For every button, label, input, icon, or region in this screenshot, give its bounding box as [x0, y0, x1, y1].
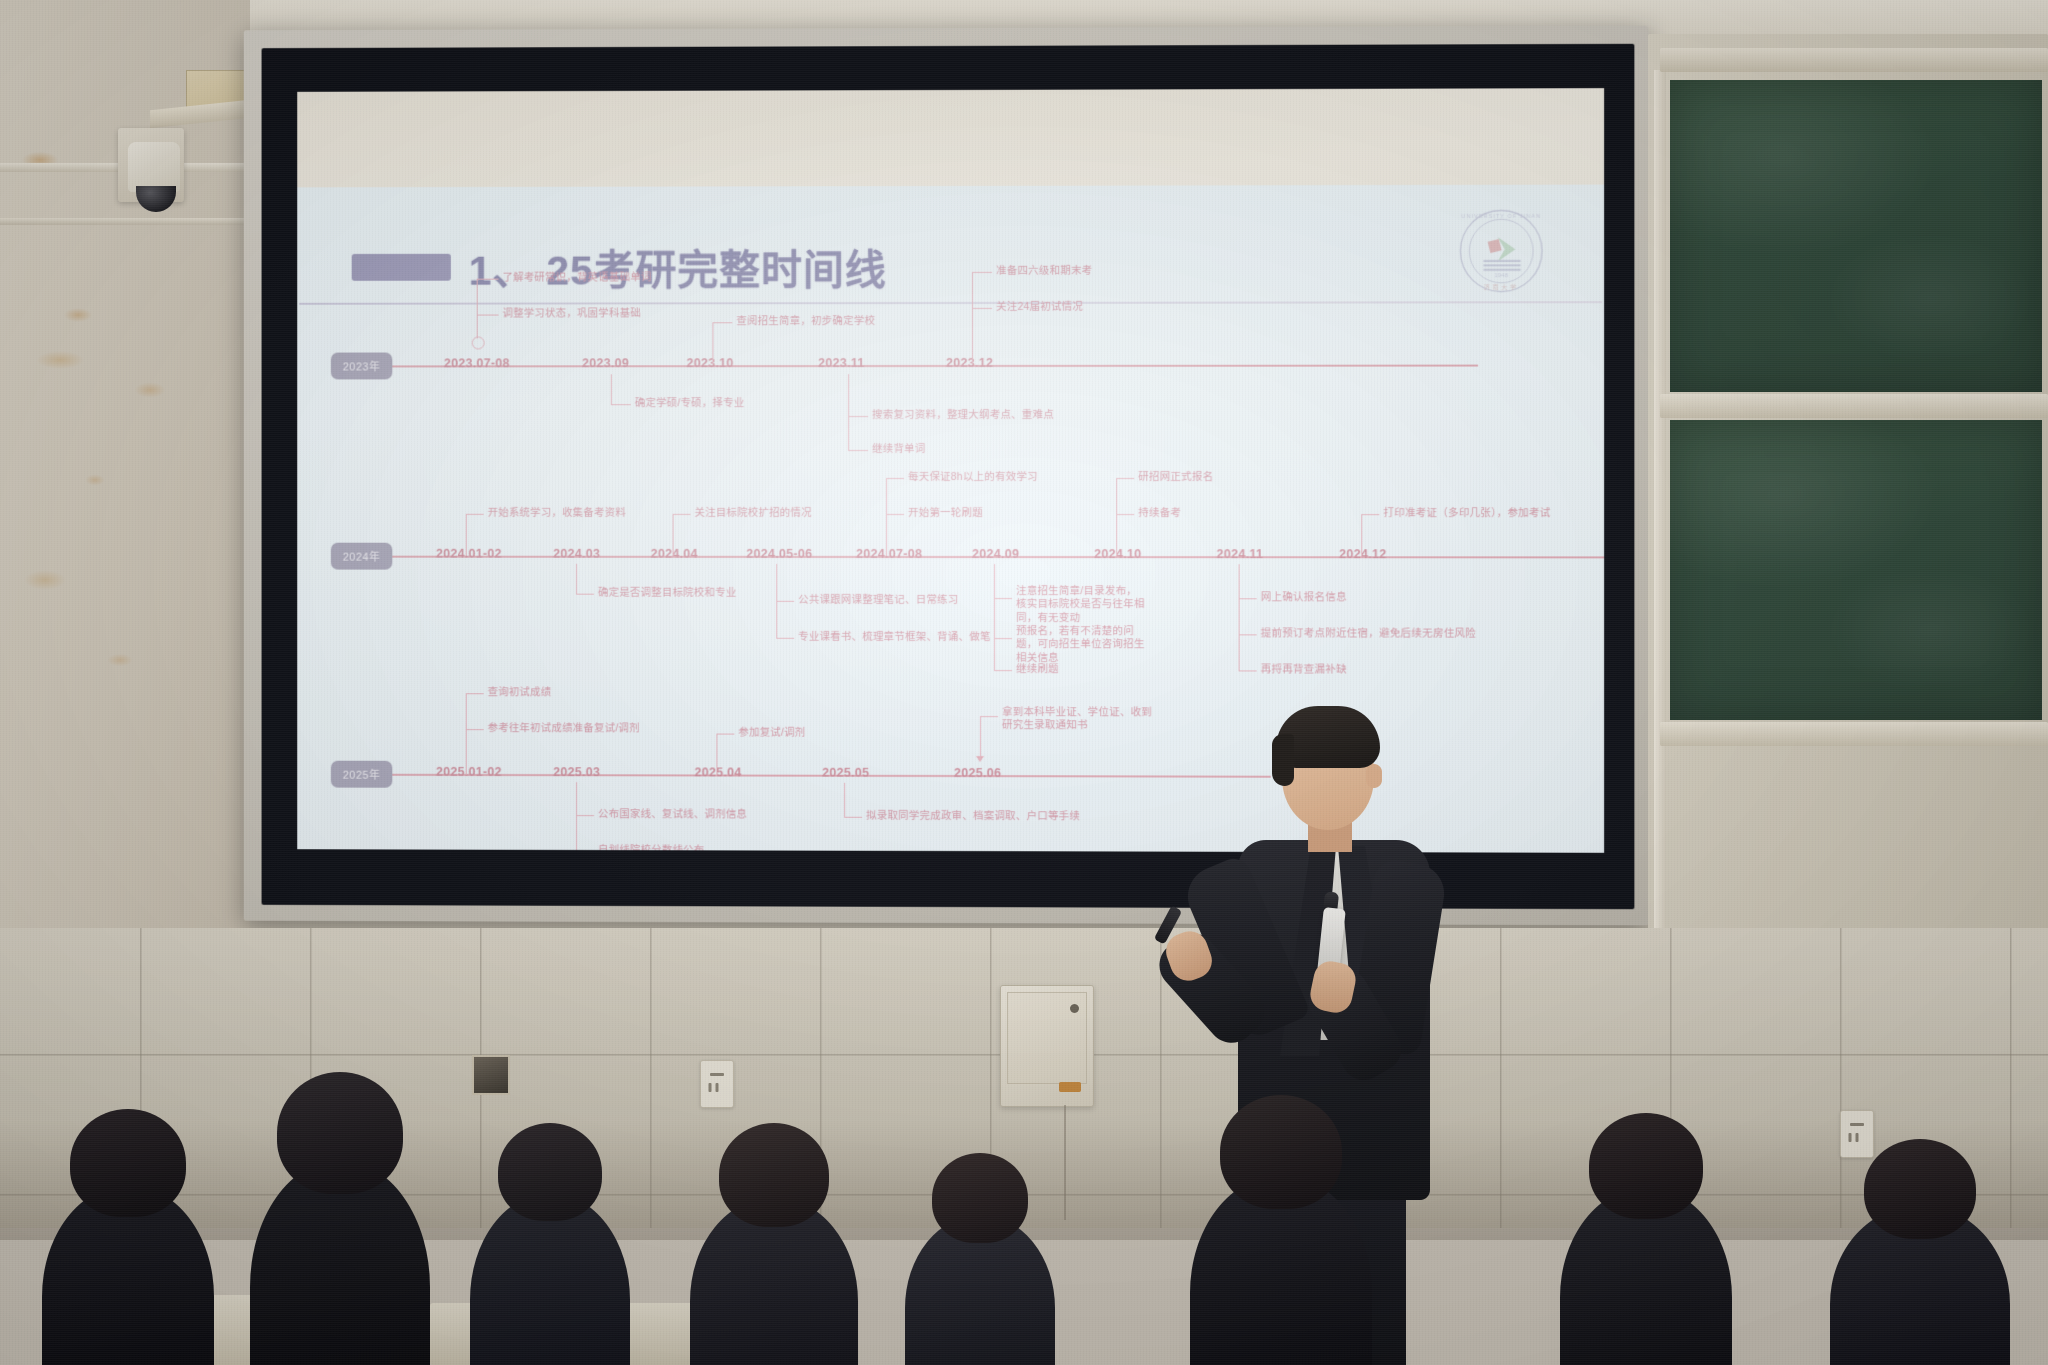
student-head	[70, 1109, 186, 1217]
branch-arm-n1	[1361, 514, 1379, 515]
timeline-row-2024: 2024年 2024.01-02 开始系统学习，收集备考资料 2024.03	[297, 446, 1604, 647]
branch-stem-c	[712, 322, 713, 364]
branch-arm-j1	[886, 478, 904, 479]
student-audience	[0, 1135, 2048, 1365]
leaf-text: 参加复试/调剂	[738, 727, 805, 741]
branch-stem-a	[477, 279, 478, 339]
timeline-row-2023: 2023年 2023.07-08 了解考研常识，背英语基础单词 调整学习状态，巩…	[297, 263, 1604, 464]
node-label-2023-09: 2023.09	[582, 356, 629, 370]
node-label-2024-05-06: 2024.05-06	[746, 547, 812, 561]
leaf-text: 参考往年初试成绩准备复试/调剂	[488, 722, 640, 736]
branch-stem-s	[980, 716, 981, 756]
branch-arm-p2	[576, 851, 594, 852]
branch-stem-h	[673, 514, 674, 556]
branch-arm-e1	[972, 272, 992, 273]
chalkboard-left-edge	[1654, 70, 1666, 950]
branch-stem-d	[848, 374, 849, 450]
branch-arm-g1	[576, 594, 594, 595]
node-label-2025-03: 2025.03	[553, 765, 600, 779]
leaf-text: 开始第一轮刷题	[908, 507, 983, 520]
chalkboard-mid-rail	[1660, 394, 2048, 418]
node-label-2025-05: 2025.05	[822, 766, 869, 780]
leaf-text: 了解考研常识，背英语基础单词	[503, 271, 652, 285]
student-silhouette	[1560, 1187, 1732, 1365]
ptz-dome-camera-icon	[128, 142, 180, 192]
node-label-2023-07-08: 2023.07-08	[444, 356, 510, 370]
branch-stem-j	[886, 478, 887, 556]
timeline-axis-2023	[392, 365, 1478, 367]
node-label-2024-01-02: 2024.01-02	[436, 547, 502, 561]
branch-stem-q	[716, 734, 717, 776]
classroom-scene: 1、 25考研完整时间线 1948	[0, 0, 2048, 1365]
node-label-2023-12: 2023.12	[946, 356, 993, 370]
panel-knob-icon	[1070, 1004, 1079, 1013]
chalkboard-bottom-rail	[1660, 722, 2048, 746]
student-silhouette	[470, 1193, 630, 1365]
student-silhouette	[1190, 1175, 1372, 1365]
leaf-text: 拟录取同学完成政审、档案调取、户口等手续	[866, 810, 1080, 824]
branch-arm-q1	[716, 734, 734, 735]
student-silhouette	[250, 1160, 430, 1365]
year-chip-2025: 2025年	[331, 761, 392, 788]
branch-arm-k1	[994, 598, 1012, 599]
student-head	[498, 1123, 602, 1221]
year-chip-2023: 2023年	[331, 353, 392, 380]
node-label-2023-11: 2023.11	[818, 356, 865, 370]
branch-stem-n	[1361, 514, 1362, 556]
student-silhouette	[905, 1215, 1055, 1365]
chalkboard-panel-top	[1670, 80, 2042, 392]
leaf-text: 自划线院校分数线公布	[598, 844, 705, 853]
branch-arm-i1	[776, 601, 794, 602]
year-chip-2024: 2024年	[331, 543, 392, 570]
leaf-text: 提前预订考点附近住宿，避免后续无房住风险	[1261, 627, 1476, 641]
student-head	[932, 1153, 1028, 1243]
branch-stem-l	[1116, 478, 1117, 556]
chalkboard	[1648, 34, 2048, 934]
node-label-2024-11: 2024.11	[1217, 547, 1264, 561]
branch-arm-d1	[848, 416, 868, 417]
leaf-text: 关注目标院校扩招的情况	[695, 507, 812, 520]
leaf-text: 注意招生简章/目录发布，核实目标院校是否与往年相同，有无变动	[1016, 585, 1146, 625]
leaf-text: 查阅招生简章，初步确定学校	[736, 315, 875, 329]
leaf-text: 开始系统学习，收集备考资料	[488, 507, 626, 520]
panel-latch-icon	[1059, 1082, 1081, 1092]
node-label-2024-09: 2024.09	[972, 547, 1019, 561]
student-silhouette	[1830, 1205, 2010, 1365]
branch-arm-p1	[576, 815, 594, 816]
leaf-text: 调整学习状态，巩固学科基础	[503, 307, 641, 321]
branch-arm-k2	[994, 638, 1012, 639]
branch-arm-m1	[1239, 598, 1257, 599]
branch-stem-e	[972, 272, 973, 364]
node-label-2024-03: 2024.03	[553, 547, 600, 561]
leaf-text: 搜索复习资料，整理大纲考点、重难点	[872, 409, 1054, 423]
leaf-text: 持续备考	[1138, 507, 1181, 520]
leaf-text: 研招网正式报名	[1138, 471, 1213, 484]
leaf-text: 关注24届初试情况	[996, 301, 1083, 315]
student-head	[719, 1123, 829, 1227]
leaf-text: 打印准考证（多印几张），参加考试	[1383, 507, 1550, 521]
student-head	[1220, 1095, 1342, 1209]
student-silhouette	[690, 1197, 858, 1365]
branch-stem-b	[611, 374, 612, 404]
student-head	[1589, 1113, 1703, 1219]
branch-arm-b1	[611, 404, 631, 405]
leaf-text: 准备四六级和期末考	[996, 265, 1092, 279]
branch-stem-f	[466, 514, 467, 556]
node-label-2025-01-02: 2025.01-02	[436, 765, 502, 779]
presenter-sideburn	[1272, 734, 1294, 786]
branch-arm-s1	[980, 716, 998, 717]
branch-arm-f1	[466, 514, 484, 515]
branch-arm-a2	[477, 315, 499, 316]
node-label-2024-07-08: 2024.07-08	[856, 547, 922, 561]
leaf-text: 确定学硕/专硕，择专业	[635, 397, 745, 410]
student-head	[1864, 1139, 1976, 1239]
node-label-2024-04: 2024.04	[651, 547, 698, 561]
presenter-ear	[1366, 764, 1382, 788]
student-silhouette	[42, 1185, 214, 1365]
leaf-text: 公共课跟网课整理笔记、日常练习	[798, 594, 958, 608]
branch-arm-h1	[673, 514, 691, 515]
branch-arm-a1	[477, 279, 499, 280]
electrical-panel-box[interactable]	[1000, 985, 1094, 1107]
node-marker-2023-07-08	[472, 336, 485, 349]
branch-arm-o1	[466, 693, 484, 694]
leaf-text: 每天保证8h以上的有效学习	[908, 471, 1038, 484]
branch-stem-p	[576, 782, 577, 853]
branch-arm-e2	[972, 308, 992, 309]
branch-arm-l2	[1116, 514, 1134, 515]
branch-stem-r	[844, 783, 845, 817]
wall-recess-box	[472, 1055, 510, 1095]
branch-arm-j2	[886, 514, 904, 515]
leaf-text: 网上确认报名信息	[1261, 591, 1347, 605]
node-label-2024-12: 2024.12	[1339, 547, 1387, 561]
branch-arm-l1	[1116, 478, 1134, 479]
leaf-text: 专业课看书、梳理章节框架、背诵、做笔	[798, 631, 990, 645]
node-label-2023-10: 2023.10	[687, 356, 734, 370]
leaf-text: 确定是否调整目标院校和专业	[598, 587, 737, 601]
chalkboard-top-rail	[1660, 48, 2048, 72]
branch-arm-c1	[712, 322, 732, 323]
student-head	[277, 1072, 403, 1194]
leaf-text: 拿到本科毕业证、学位证、收到研究生录取通知书	[1002, 706, 1162, 733]
branch-arrow-s	[976, 756, 984, 762]
svg-text:UNIVERSITY OF JINAN: UNIVERSITY OF JINAN	[1461, 214, 1541, 220]
node-label-2024-10: 2024.10	[1094, 547, 1141, 561]
wall-outlet-icon[interactable]	[700, 1060, 734, 1108]
branch-arm-r1	[844, 817, 862, 818]
node-label-2025-04: 2025.04	[695, 765, 742, 779]
leaf-text: 查询初试成绩	[488, 686, 552, 699]
node-label-2025-06: 2025.06	[954, 766, 1001, 780]
chalkboard-panel-bottom	[1670, 420, 2042, 720]
branch-stem-o	[466, 693, 467, 775]
branch-stem-g	[576, 564, 577, 594]
leaf-text: 公布国家线、复试线、调剂信息	[598, 808, 747, 822]
branch-arm-o2	[466, 729, 484, 730]
branch-arm-i2	[776, 638, 794, 639]
wall-molding-lower	[0, 218, 250, 225]
branch-arm-m2	[1239, 634, 1257, 635]
